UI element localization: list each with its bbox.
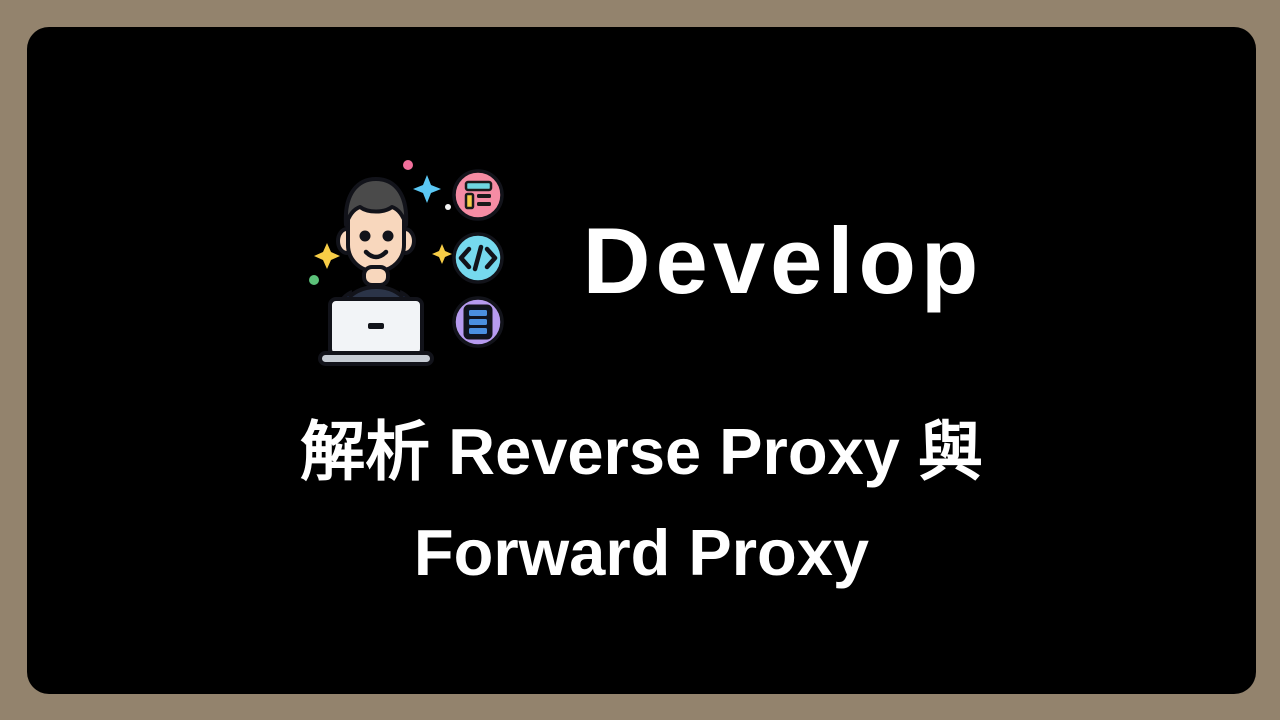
badge-wireframe-layout bbox=[454, 171, 502, 219]
pink-dot-sparkle bbox=[403, 160, 413, 170]
subtitle-line-1: 解析 Reverse Proxy 與 bbox=[27, 402, 1256, 503]
developer-illustration-svg bbox=[300, 149, 515, 379]
laptop-base bbox=[320, 353, 432, 364]
page-title: Develop bbox=[583, 214, 984, 314]
yellow-star-sparkle bbox=[314, 243, 340, 269]
laptop-logo bbox=[368, 323, 384, 329]
subtitle: 解析 Reverse Proxy 與 Forward Proxy bbox=[27, 402, 1256, 604]
neck bbox=[364, 267, 388, 285]
blue-star-sparkle bbox=[413, 175, 441, 203]
hero-row: Develop bbox=[27, 139, 1256, 389]
eye-right bbox=[382, 231, 393, 242]
yellow-small-star-sparkle bbox=[432, 244, 452, 264]
badge-code-brackets bbox=[454, 234, 502, 282]
developer-illustration bbox=[300, 149, 515, 379]
slide-card: Develop 解析 Reverse Proxy 與 Forward Proxy bbox=[27, 27, 1256, 694]
green-dot-sparkle bbox=[309, 275, 319, 285]
eye-left bbox=[359, 231, 370, 242]
badge-server-stack bbox=[454, 298, 502, 346]
white-dot-sparkle bbox=[445, 204, 451, 210]
subtitle-line-2: Forward Proxy bbox=[27, 503, 1256, 604]
